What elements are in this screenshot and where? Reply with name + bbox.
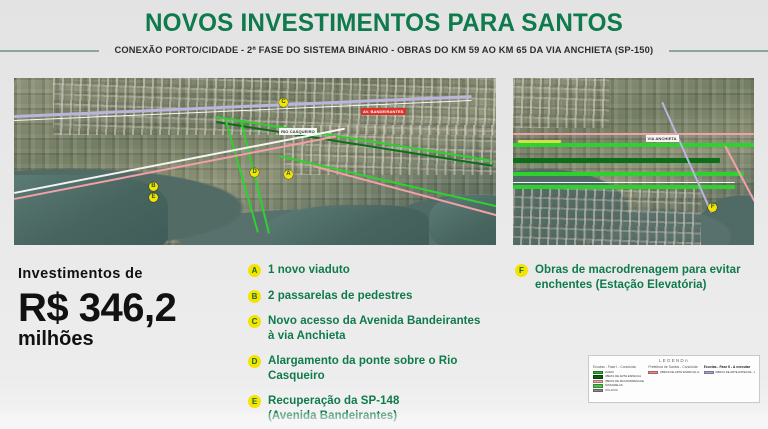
rule-right [669, 50, 768, 52]
list-item: FObras de macrodrenagem para evitarenche… [515, 263, 760, 292]
legend-label: PASSARELAS [605, 384, 623, 388]
legend-swatch [648, 371, 658, 374]
map-label: AV. BANDEIRANTES [361, 108, 406, 115]
item-text: Obras de macrodrenagem para evitarenchen… [535, 263, 741, 292]
legend-label: OBRAS DE ARTE ESPECIAL E VIÁRIO [660, 371, 700, 375]
aerial-map-right[interactable]: VIA ANCHIETA F [513, 78, 754, 245]
legend-title: LEGENDA [593, 358, 755, 364]
legend-box: LEGENDA Ecovias - Fase I - ConcluídaVIÁR… [588, 355, 760, 403]
water-body [14, 175, 168, 245]
investment-amount: R$ 346,2 [18, 287, 243, 329]
item-text: 1 novo viaduto [268, 263, 350, 278]
legend-column-heading: Prefeitura de Santos - Concluída [648, 365, 699, 370]
route-overlay [513, 143, 754, 147]
list-item: DAlargamento da ponte sobre o Rio Casque… [248, 354, 510, 383]
item-badge-e: E [248, 395, 261, 408]
urban-texture [513, 78, 609, 128]
item-badge-f: F [515, 264, 528, 277]
rule-left [0, 50, 99, 52]
items-column-right: FObras de macrodrenagem para evitarenche… [515, 263, 760, 303]
legend-columns: Ecovias - Fase I - ConcluídaVIÁRIOOBRAS … [593, 365, 755, 393]
legend-row: VIÁRIO [593, 371, 644, 375]
route-overlay [513, 172, 744, 176]
investment-unit: milhões [18, 328, 243, 350]
item-text: Alargamento da ponte sobre o Rio Casquei… [268, 354, 510, 383]
legend-label: CICLOVIA [605, 389, 618, 393]
legend-swatch [704, 371, 714, 374]
urban-texture [513, 188, 701, 245]
map-label: RIO CASQUEIRO [279, 128, 317, 135]
legend-label: OBRAS DE ARTE ESPECIAL, VIÁRIO E OBRAS D… [715, 371, 755, 375]
aerial-map-left[interactable]: AV. BANDEIRANTES RIO CASQUEIRO C D A B E [14, 78, 496, 245]
legend-swatch [593, 389, 603, 392]
item-text: 2 passarelas de pedestres [268, 289, 412, 304]
route-overlay [513, 133, 754, 135]
item-text: Novo acesso da Avenida Bandeirantesà via… [268, 314, 480, 343]
legend-column-heading: Ecovias - Fase I - Concluída [593, 365, 644, 370]
legend-row: OBRAS DE ARTE ESPECIAL E VIÁRIO [648, 371, 699, 375]
legend-label: OBRAS DE MACRODRENAGEM / PAVIMENTAÇÃO [605, 380, 645, 384]
page-header: NOVOS INVESTIMENTOS PARA SANTOS CONEXÃO … [0, 0, 768, 56]
legend-label: OBRAS DE ARTE ESPECIAL [605, 375, 642, 379]
legend-row: OBRAS DE ARTE ESPECIAL, VIÁRIO E OBRAS D… [704, 371, 755, 375]
items-column-left: A1 novo viadutoB2 passarelas de pedestre… [248, 263, 510, 429]
route-overlay [513, 182, 735, 184]
item-badge-d: D [248, 355, 261, 368]
legend-column: Ecovias - Fase II - A executarOBRAS DE A… [704, 365, 755, 393]
map-marker-b[interactable]: B [149, 182, 158, 191]
legend-swatch [593, 371, 603, 374]
item-badge-c: C [248, 315, 261, 328]
list-item: B2 passarelas de pedestres [248, 289, 510, 304]
map-label: VIA ANCHIETA [646, 135, 679, 142]
legend-swatch [593, 384, 603, 387]
legend-column: Prefeitura de Santos - ConcluídaOBRAS DE… [648, 365, 699, 393]
investment-summary: Investimentos de R$ 346,2 milhões [18, 265, 243, 350]
page-subtitle: CONEXÃO PORTO/CIDADE - 2ª FASE DO SISTEM… [115, 45, 654, 56]
legend-row: CICLOVIA [593, 389, 644, 393]
bottom-band [0, 413, 768, 429]
map-gallery: AV. BANDEIRANTES RIO CASQUEIRO C D A B E… [14, 78, 754, 245]
item-badge-a: A [248, 264, 261, 277]
legend-row: OBRAS DE ARTE ESPECIAL [593, 375, 644, 379]
legend-row: OBRAS DE MACRODRENAGEM / PAVIMENTAÇÃO [593, 380, 644, 384]
subtitle-row: CONEXÃO PORTO/CIDADE - 2ª FASE DO SISTEM… [0, 45, 768, 56]
legend-row: PASSARELAS [593, 384, 644, 388]
legend-label: VIÁRIO [605, 371, 614, 375]
legend-swatch [593, 375, 603, 378]
item-badge-b: B [248, 290, 261, 303]
legend-swatch [593, 380, 603, 383]
list-item: CNovo acesso da Avenida Bandeirantesà vi… [248, 314, 510, 343]
legend-column-heading: Ecovias - Fase II - A executar [704, 365, 755, 370]
map-marker-a[interactable]: A [284, 170, 293, 179]
list-item: A1 novo viaduto [248, 263, 510, 278]
route-overlay [518, 140, 561, 143]
legend-column: Ecovias - Fase I - ConcluídaVIÁRIOOBRAS … [593, 365, 644, 393]
page-title: NOVOS INVESTIMENTOS PARA SANTOS [12, 8, 757, 38]
investment-label: Investimentos de [18, 265, 243, 283]
